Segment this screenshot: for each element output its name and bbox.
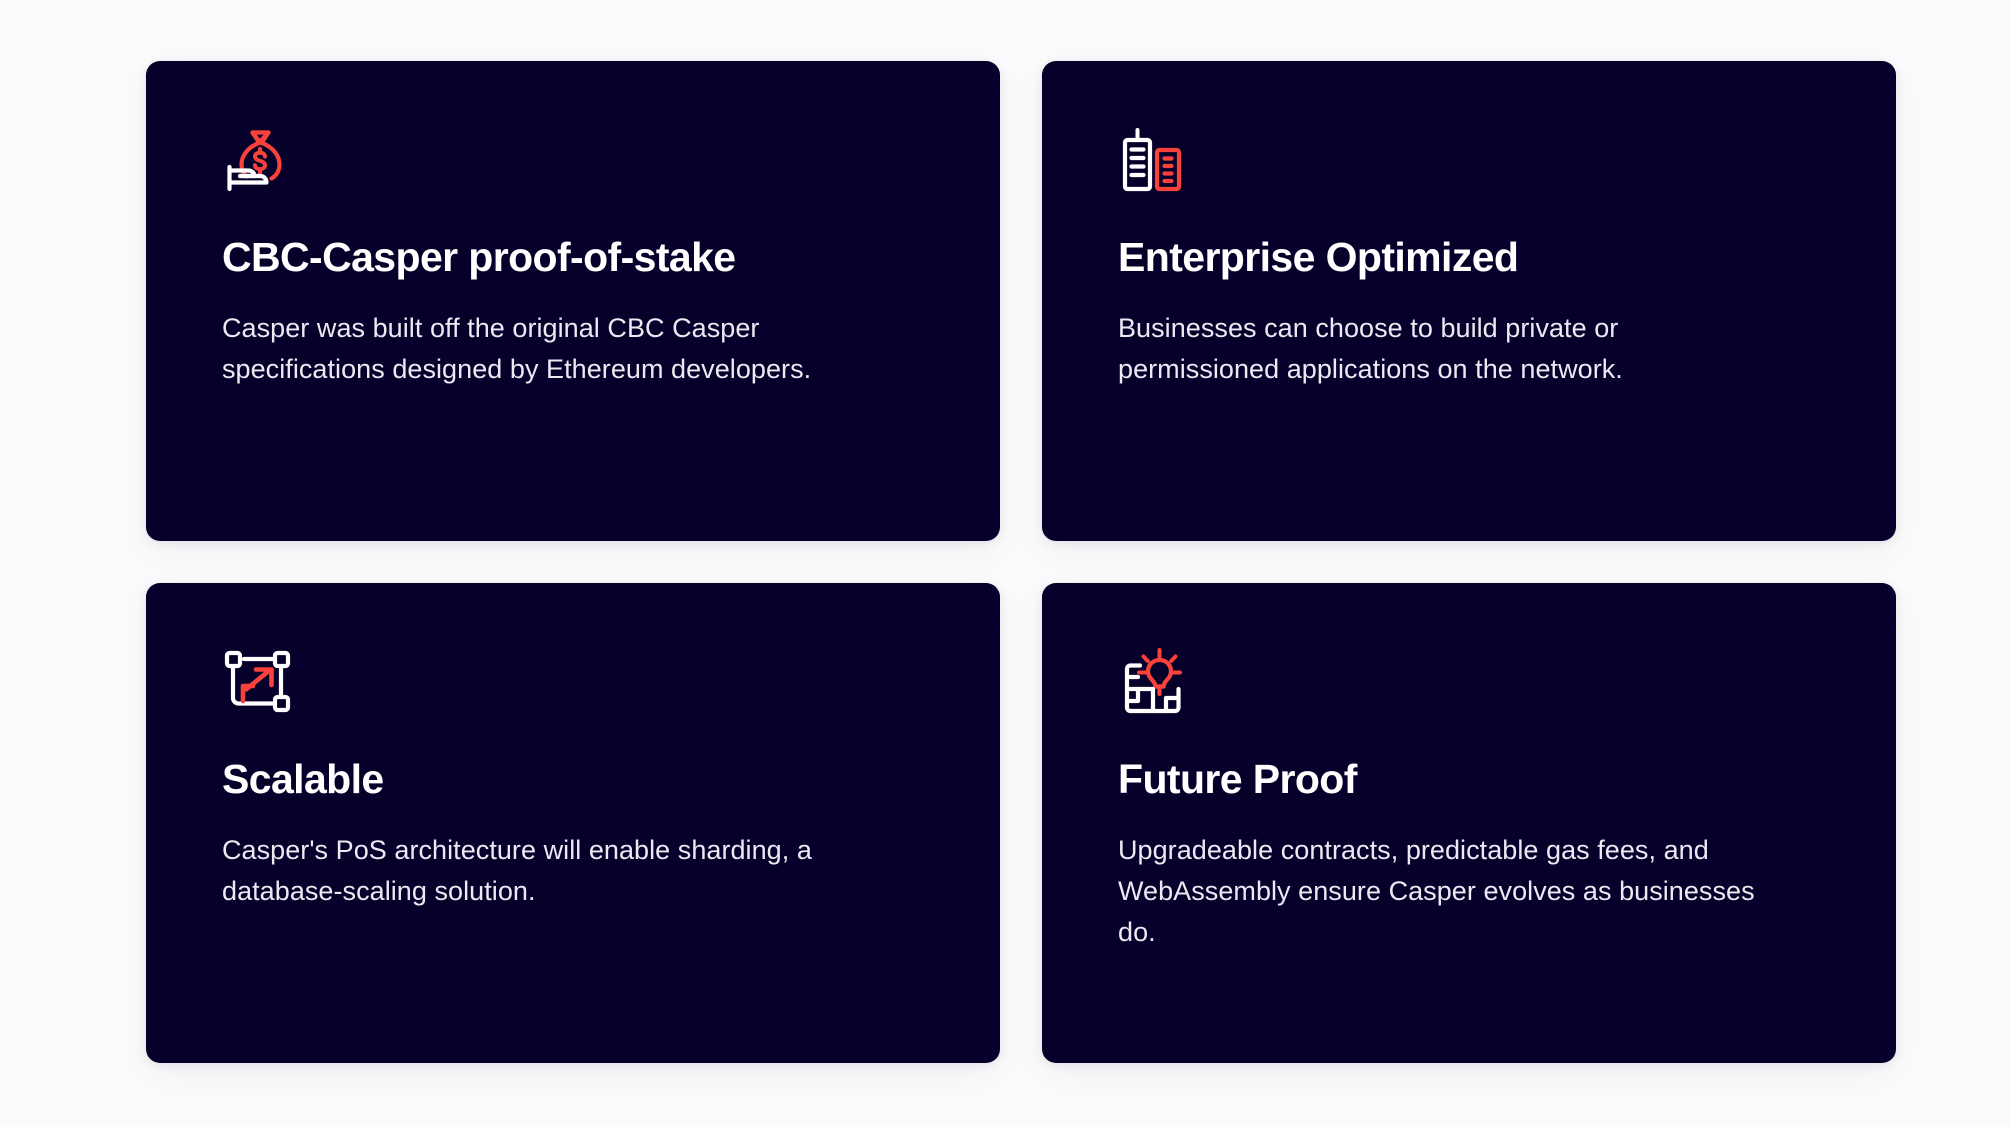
card-description-line: Upgradeable contracts, predictable gas f…	[1118, 830, 1818, 871]
card-title: CBC-Casper proof-of-stake	[222, 235, 924, 281]
lightbulb-circuit-icon	[1118, 645, 1194, 721]
card-title: Future Proof	[1118, 757, 1820, 803]
card-description-line: database-scaling solution.	[222, 871, 882, 912]
features-page: CBC-Casper proof-of-stake Casper was bui…	[0, 0, 2010, 1126]
scale-arrow-icon	[222, 645, 298, 721]
card-description: Businesses can choose to build private o…	[1118, 308, 1808, 390]
card-title: Enterprise Optimized	[1118, 235, 1820, 281]
card-description-line: specifications designed by Ethereum deve…	[222, 349, 912, 390]
card-title: Scalable	[222, 757, 924, 803]
feature-card-future-proof[interactable]: Future Proof Upgradeable contracts, pred…	[1042, 583, 1896, 1063]
card-description-line: Casper was built off the original CBC Ca…	[222, 308, 912, 349]
feature-card-cbc-casper[interactable]: CBC-Casper proof-of-stake Casper was bui…	[146, 61, 1000, 541]
card-description: Casper was built off the original CBC Ca…	[222, 308, 912, 390]
office-buildings-icon	[1118, 123, 1194, 199]
card-description-line: WebAssembly ensure Casper evolves as bus…	[1118, 871, 1818, 912]
feature-card-enterprise-optimized[interactable]: Enterprise Optimized Businesses can choo…	[1042, 61, 1896, 541]
money-bag-icon	[222, 123, 298, 199]
card-description: Casper's PoS architecture will enable sh…	[222, 830, 882, 912]
card-description-line: Businesses can choose to build private o…	[1118, 308, 1808, 349]
feature-card-scalable[interactable]: Scalable Casper's PoS architecture will …	[146, 583, 1000, 1063]
feature-card-grid: CBC-Casper proof-of-stake Casper was bui…	[146, 61, 1872, 1063]
card-description-line: permissioned applications on the network…	[1118, 349, 1808, 390]
card-description-line: do.	[1118, 912, 1818, 953]
card-description-line: Casper's PoS architecture will enable sh…	[222, 830, 882, 871]
card-description: Upgradeable contracts, predictable gas f…	[1118, 830, 1818, 953]
